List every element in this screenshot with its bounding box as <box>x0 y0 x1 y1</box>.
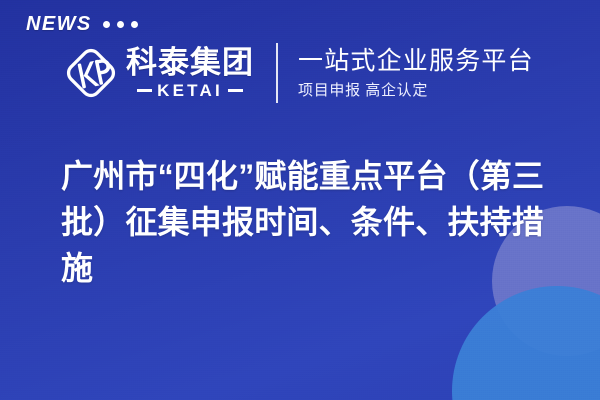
brand-name-en-row: KETAI <box>137 82 243 99</box>
news-banner-poster: NEWS 科泰集团 <box>0 0 600 400</box>
decorative-circle-cyan <box>452 286 600 400</box>
brand-lockup: 科泰集团 KETAI 一站式企业服务平台 项目申报 高企认定 <box>60 42 534 104</box>
brand-wordmark: 科泰集团 KETAI <box>126 47 254 99</box>
vertical-divider <box>276 43 278 103</box>
headline-title: 广州市“四化”赋能重点平台（第三批）征集申报时间、条件、扶持措施 <box>61 154 547 291</box>
news-dot-1 <box>103 21 110 28</box>
slogan-block: 一站式企业服务平台 项目申报 高企认定 <box>298 46 534 100</box>
ketai-logo-icon <box>60 42 122 104</box>
news-ribbon: NEWS <box>26 14 138 34</box>
news-label: NEWS <box>26 14 92 34</box>
slogan-sub: 项目申报 高企认定 <box>298 82 534 100</box>
brand-rule-left-icon <box>137 89 152 92</box>
news-dots-decoration <box>103 21 138 28</box>
news-dot-3 <box>131 21 138 28</box>
brand-name-en: KETAI <box>157 82 223 99</box>
slogan-main: 一站式企业服务平台 <box>298 46 534 77</box>
brand-rule-right-icon <box>228 89 243 92</box>
brand-name-cn: 科泰集团 <box>126 47 254 80</box>
news-dot-2 <box>117 21 124 28</box>
